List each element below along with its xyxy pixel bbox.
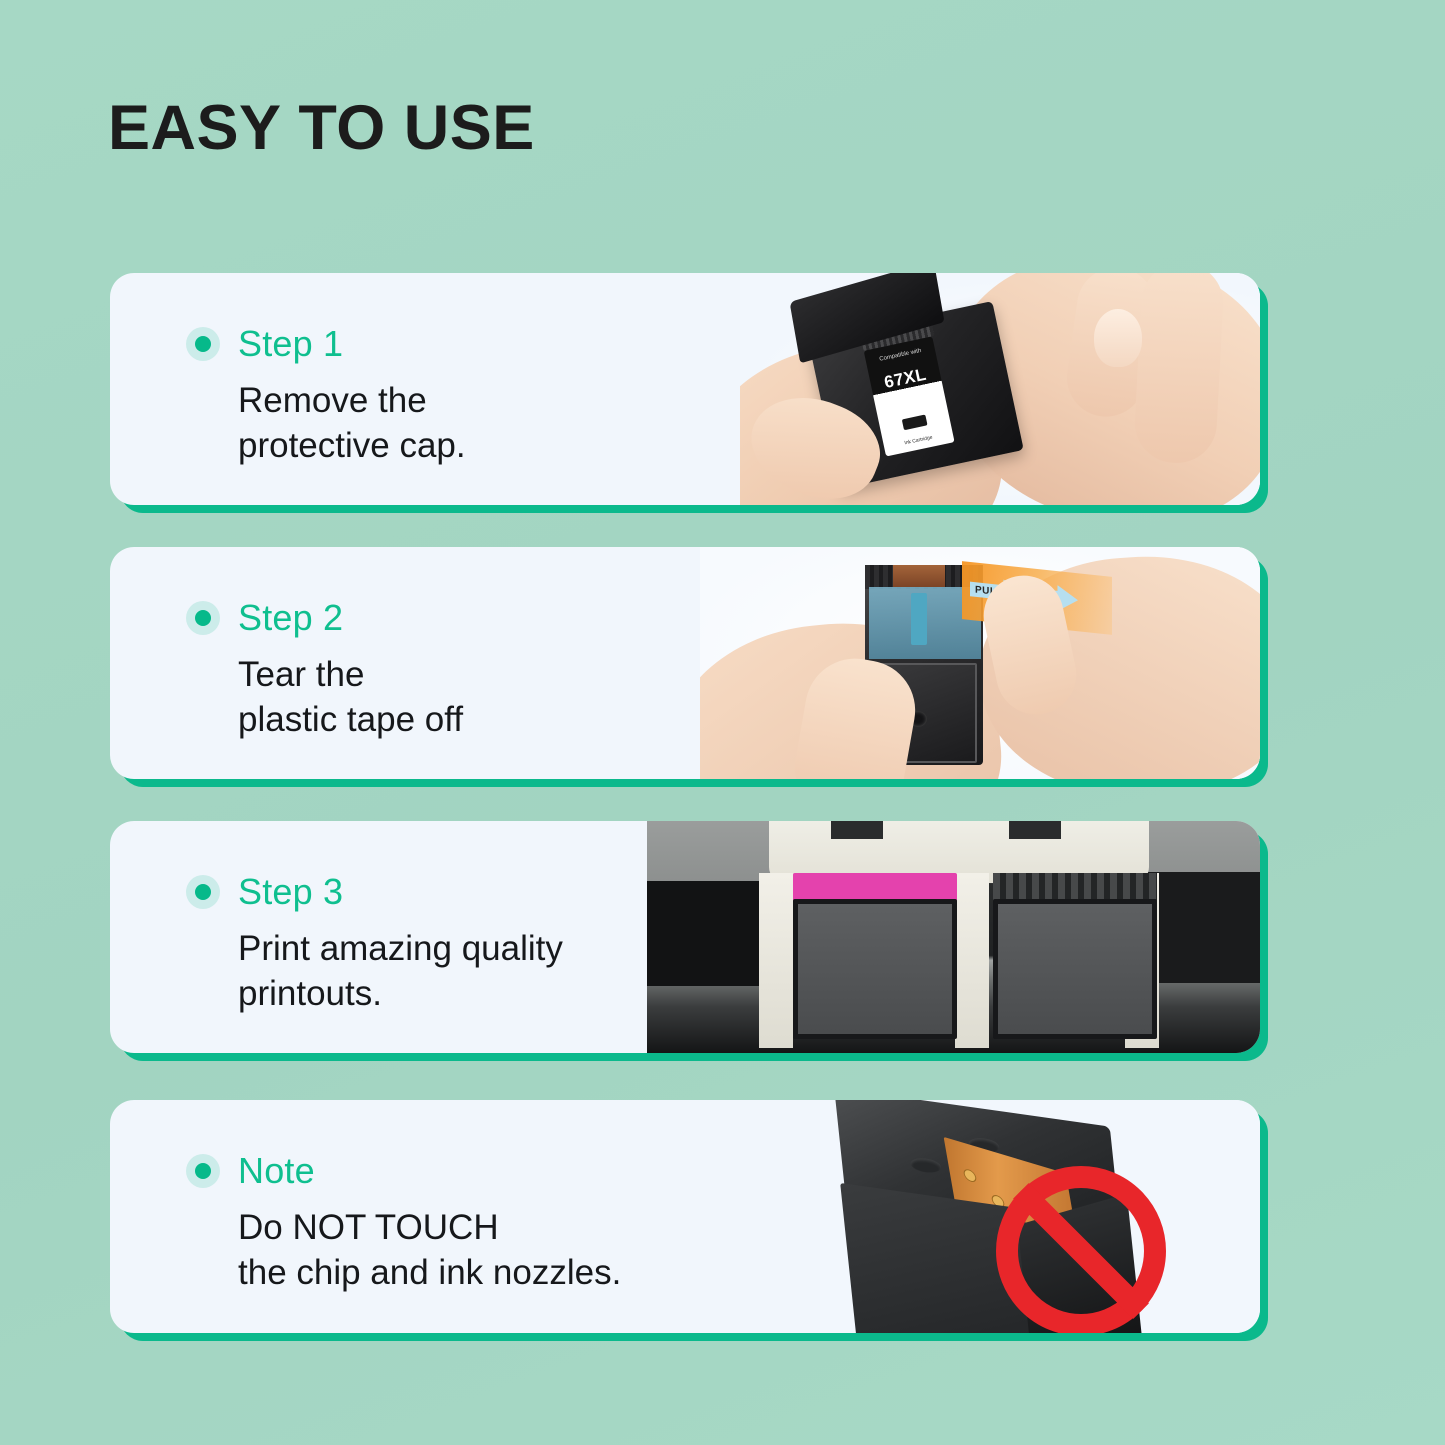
step-3-text: Step 3 Print amazing quality printouts. — [186, 871, 563, 1017]
cartridge-label: Compatible with 67XL Ink Cartridge — [864, 336, 955, 456]
carriage-tab — [831, 821, 883, 839]
step-3-label: Step 3 — [238, 871, 343, 913]
bullet-dot-icon — [186, 1154, 220, 1188]
step-1-text: Step 1 Remove the protective cap. — [186, 323, 466, 469]
note-text: Note Do NOT TOUCH the chip and ink nozzl… — [186, 1150, 621, 1296]
step-1-image: Compatible with 67XL Ink Cartridge — [740, 273, 1260, 505]
step-2-image: PULL PULL — [700, 547, 1260, 779]
bullet-dot-icon — [186, 327, 220, 361]
step-card-1: Compatible with 67XL Ink Cartridge Step … — [110, 273, 1260, 505]
bullet-dot-icon — [186, 875, 220, 909]
fingernail — [1094, 309, 1142, 367]
middle-finger — [1133, 273, 1225, 465]
prohibition-icon — [996, 1166, 1166, 1333]
cartridge-label-sub: Compatible with — [866, 345, 936, 365]
color-cartridge-body — [793, 899, 957, 1039]
black-cartridge-contacts — [993, 873, 1157, 901]
step-1-label: Step 1 — [238, 323, 343, 365]
cartridge-label-model: 67XL — [869, 362, 942, 396]
step-card-2: PULL PULL Step 2 Tear the plastic tape o… — [110, 547, 1260, 779]
step-card-3: Step 3 Print amazing quality printouts. — [110, 821, 1260, 1053]
step-2-text: Step 2 Tear the plastic tape off — [186, 597, 463, 743]
step-1-description: Remove the protective cap. — [238, 379, 466, 469]
carriage-post — [955, 873, 989, 1048]
cartridge-label-foot: Ink Cartridge — [884, 430, 954, 450]
step-2-description: Tear the plastic tape off — [238, 653, 463, 743]
black-cartridge-body — [993, 899, 1157, 1039]
carriage-post — [759, 873, 793, 1048]
note-description: Do NOT TOUCH the chip and ink nozzles. — [238, 1206, 621, 1296]
infographic-page: EASY TO USE Compatible with 67XL Ink Car… — [0, 0, 1445, 1445]
cartridge-copper-strip — [893, 565, 945, 587]
note-label: Note — [238, 1150, 315, 1192]
printer-carriage — [759, 821, 1159, 1053]
step-3-image — [647, 821, 1260, 1053]
note-image — [820, 1100, 1260, 1333]
color-cartridge-slot — [791, 873, 959, 1043]
carriage-tab — [1009, 821, 1061, 839]
black-cartridge-slot — [991, 873, 1159, 1043]
step-2-label: Step 2 — [238, 597, 343, 639]
cartridge-label-chip-icon — [902, 415, 928, 431]
bullet-dot-icon — [186, 601, 220, 635]
color-cartridge-cap — [793, 873, 957, 901]
cartridge-blue-strip — [911, 593, 927, 645]
step-3-description: Print amazing quality printouts. — [238, 927, 563, 1017]
page-title: EASY TO USE — [108, 95, 535, 161]
note-card: Note Do NOT TOUCH the chip and ink nozzl… — [110, 1100, 1260, 1333]
